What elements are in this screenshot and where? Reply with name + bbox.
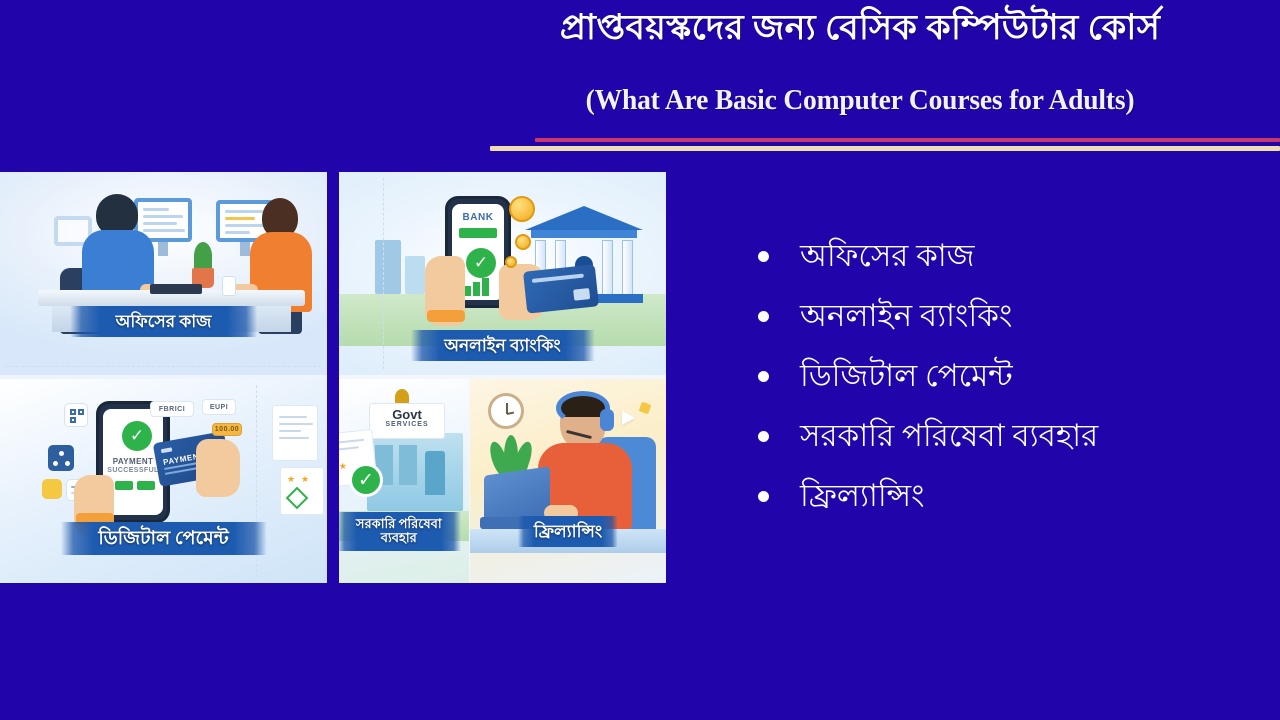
bullet-label: ডিজিটাল পেমেন্ট bbox=[800, 359, 1013, 393]
coin-badge-icon bbox=[42, 479, 62, 499]
panel-caption: অনলাইন ব্যাংকিং bbox=[410, 330, 594, 361]
collage-panel-online-banking: BANK ✓ অনলাইন ব্যা bbox=[339, 172, 666, 375]
list-item: অফিসের কাজ bbox=[758, 226, 1268, 286]
amount-tag: 100.00 bbox=[212, 423, 242, 436]
collage-panel-office: অফিসের কাজ bbox=[0, 172, 327, 375]
wrist-band bbox=[427, 310, 465, 322]
collage-panel-digital-payment: ✓ PAYMENT SUCCESSFUL PAYMENT FBRICI bbox=[0, 379, 327, 583]
list-item: ফ্রিল্যান্সিং bbox=[758, 466, 1268, 526]
qr-badge-icon bbox=[64, 403, 88, 427]
headset-earcup bbox=[600, 409, 614, 431]
bullet-dot-icon bbox=[758, 491, 769, 502]
checkmark-icon: ✓ bbox=[466, 248, 496, 278]
bullet-dot-icon bbox=[758, 371, 769, 382]
bullet-label: ফ্রিল্যান্সিং bbox=[800, 479, 925, 513]
govt-sign: Govt SERVICES bbox=[369, 403, 445, 439]
rating-card-icon: ★ ★ bbox=[280, 467, 324, 515]
bullet-label: অফিসের কাজ bbox=[800, 239, 975, 273]
list-item: অনলাইন ব্যাংকিং bbox=[758, 286, 1268, 346]
clock-icon bbox=[488, 393, 524, 429]
govt-sign-subtitle: SERVICES bbox=[370, 421, 444, 428]
coin-icon bbox=[509, 196, 535, 222]
bullet-dot-icon bbox=[758, 251, 769, 262]
tag-label: EUPI bbox=[202, 399, 236, 415]
panel-caption: অফিসের কাজ bbox=[70, 306, 258, 337]
building-silhouette bbox=[375, 240, 401, 294]
document-icon bbox=[272, 405, 318, 461]
monitor-stand bbox=[240, 242, 250, 256]
bullet-label: সরকারি পরিষেবা ব্যবহার bbox=[800, 419, 1098, 453]
bank-card-icon bbox=[523, 264, 599, 313]
collage-left: অফিসের কাজ bbox=[0, 172, 327, 583]
page-title-bengali: প্রাপ্তবয়স্কদের জন্য বেসিক কম্পিউটার কো… bbox=[440, 6, 1280, 51]
tag-label: FBRICI bbox=[150, 401, 194, 417]
monitor-stand bbox=[158, 242, 168, 256]
divider-cream bbox=[490, 146, 1280, 151]
list-item: ডিজিটাল পেমেন্ট bbox=[758, 346, 1268, 406]
phone-status-label: SUCCESSFUL bbox=[103, 467, 163, 474]
paper-plane-icon bbox=[622, 411, 635, 425]
panel-caption: ফ্রিল্যান্সিং bbox=[518, 516, 618, 547]
phone-bank-label: BANK bbox=[452, 212, 504, 223]
panel-caption: ডিজিটাল পেমেন্ট bbox=[60, 522, 266, 555]
coin-icon bbox=[515, 234, 531, 250]
divider-crimson bbox=[535, 138, 1280, 142]
cup-icon bbox=[222, 276, 236, 296]
hand-icon bbox=[196, 439, 240, 497]
plant-icon bbox=[194, 242, 212, 270]
phone-payment-label: PAYMENT bbox=[103, 457, 163, 466]
bullet-dot-icon bbox=[758, 431, 769, 442]
keyboard-icon bbox=[150, 284, 202, 294]
govt-sign-title: Govt bbox=[370, 408, 444, 421]
building-silhouette bbox=[405, 256, 425, 294]
collage-panel-govt-services: Govt SERVICES ★ ✓ সরকারি পরিষেবা ব্যবহার bbox=[339, 379, 469, 583]
page-title-english: (What Are Basic Computer Courses for Adu… bbox=[461, 84, 1259, 117]
bullet-list: অফিসের কাজ অনলাইন ব্যাংকিং ডিজিটাল পেমেন… bbox=[758, 226, 1268, 526]
bullet-label: অনলাইন ব্যাংকিং bbox=[800, 299, 1012, 333]
header: প্রাপ্তবয়স্কদের জন্য বেসিক কম্পিউটার কো… bbox=[440, 0, 1280, 150]
checkmark-icon: ✓ bbox=[122, 421, 152, 451]
panel-caption: সরকারি পরিষেবা ব্যবহার bbox=[339, 512, 461, 551]
network-badge-icon bbox=[48, 445, 74, 471]
list-item: সরকারি পরিষেবা ব্যবহার bbox=[758, 406, 1268, 466]
checkmark-icon: ✓ bbox=[349, 463, 383, 497]
collage-panel-freelancing: ফ্রিল্যান্সিং bbox=[470, 379, 666, 583]
coin-icon bbox=[505, 256, 517, 268]
slide-root: প্রাপ্তবয়স্কদের জন্য বেসিক কম্পিউটার কো… bbox=[0, 0, 1280, 720]
bullet-dot-icon bbox=[758, 311, 769, 322]
collage-right: BANK ✓ অনলাইন ব্যা bbox=[339, 172, 666, 583]
